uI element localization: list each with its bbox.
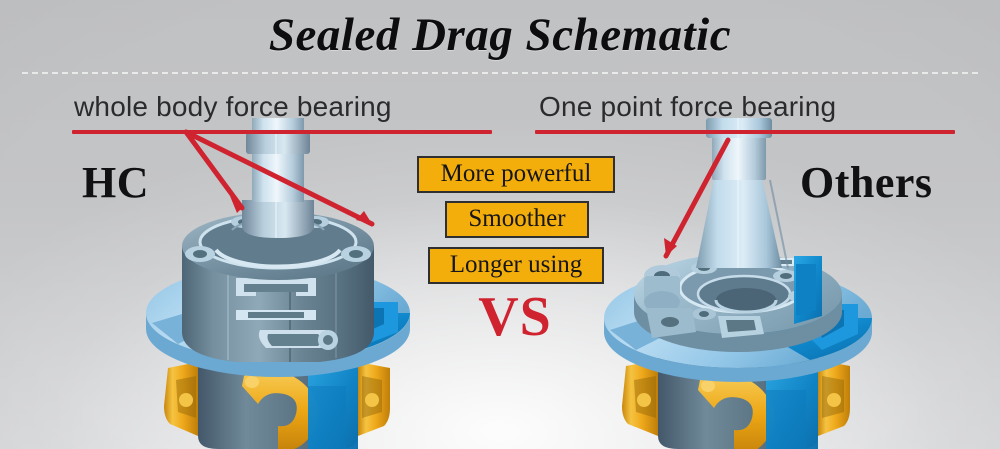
heading-right: One point force bearing: [539, 91, 836, 123]
page-title: Sealed Drag Schematic: [0, 6, 1000, 64]
schematic-banner: Sealed Drag Schematic whole body force b…: [0, 0, 1000, 449]
heading-right-underline: [535, 130, 955, 134]
feature-chip-longer-using: Longer using: [428, 247, 604, 284]
brand-label-others: Others: [800, 157, 933, 208]
versus-label: VS: [0, 286, 1000, 348]
heading-left: whole body force bearing: [74, 91, 392, 123]
header-divider: [22, 72, 978, 74]
diagram-hc: [140, 118, 440, 449]
brand-label-hc: HC: [82, 157, 149, 208]
feature-chip-more-powerful: More powerful: [417, 156, 615, 193]
versus-text: VS: [478, 286, 552, 348]
feature-chip-smoother: Smoother: [445, 201, 589, 238]
heading-left-underline: [72, 130, 492, 134]
